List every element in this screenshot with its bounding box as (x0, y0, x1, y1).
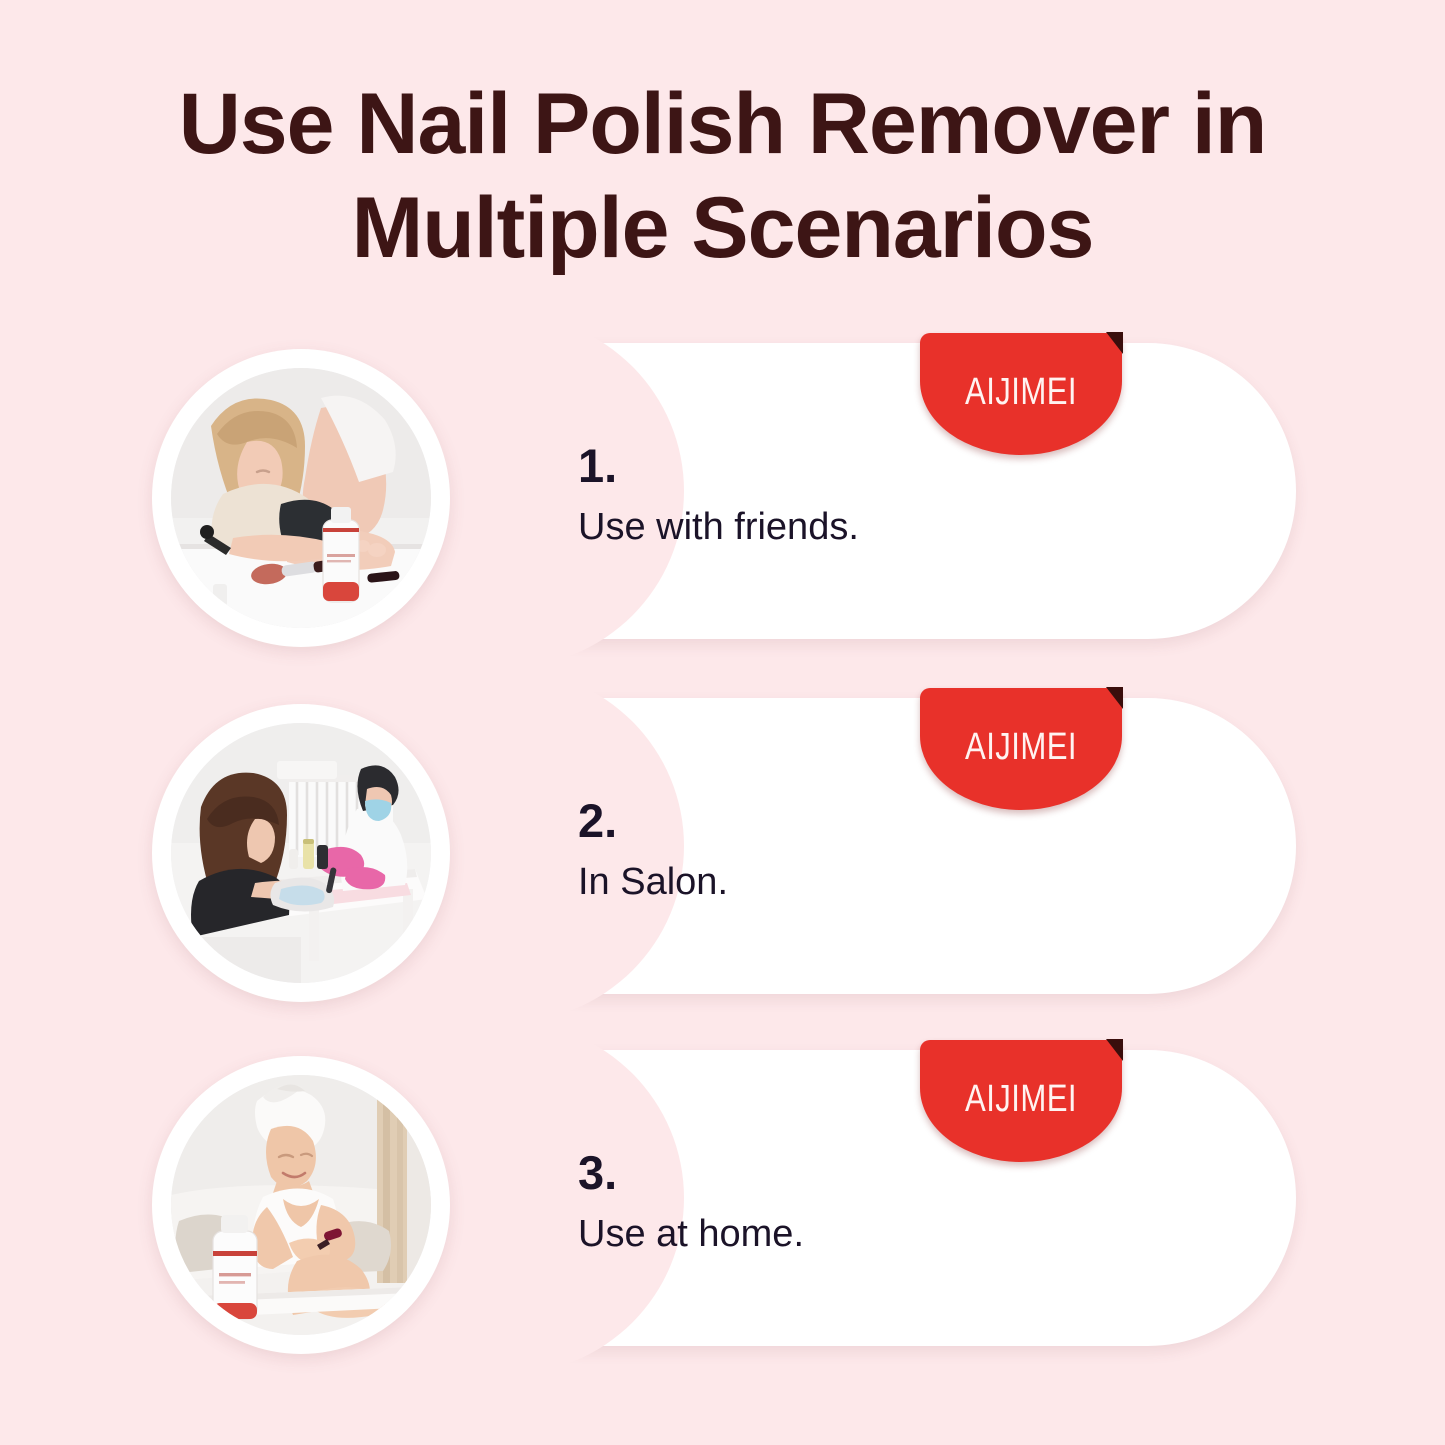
photo-two-women-doing-nails (171, 368, 431, 628)
card-text: 3. Use at home. (578, 1146, 804, 1258)
photo-woman-at-home-pedicure (171, 1075, 431, 1335)
card-description: Use with friends. (578, 503, 859, 551)
photo-ring (152, 1056, 450, 1354)
scenario-card-1: 1. Use with friends. AIJIMEI (0, 343, 1445, 643)
scenario-card-3: 3. Use at home. AIJIMEI (0, 1050, 1445, 1350)
card-text: 2. In Salon. (578, 794, 728, 906)
photo-salon-manicure (171, 723, 431, 983)
card-number: 2. (578, 794, 728, 848)
brand-badge: AIJIMEI (920, 333, 1122, 455)
photo-ring (152, 704, 450, 1002)
card-description: Use at home. (578, 1210, 804, 1258)
badge-fold-corner-icon (1106, 687, 1123, 709)
card-number: 1. (578, 439, 859, 493)
badge-fold-corner-icon (1106, 332, 1123, 354)
card-description: In Salon. (578, 858, 728, 906)
badge-fold-corner-icon (1106, 1039, 1123, 1061)
card-text: 1. Use with friends. (578, 439, 859, 551)
scenario-card-2: 2. In Salon. AIJIMEI (0, 698, 1445, 998)
photo-ring (152, 349, 450, 647)
scenario-card-list: 1. Use with friends. AIJIMEI (0, 0, 1445, 1445)
badge-label: AIJIMEI (938, 688, 1104, 810)
card-number: 3. (578, 1146, 804, 1200)
brand-badge: AIJIMEI (920, 1040, 1122, 1162)
badge-label: AIJIMEI (938, 1040, 1104, 1162)
badge-label: AIJIMEI (938, 333, 1104, 455)
brand-badge: AIJIMEI (920, 688, 1122, 810)
